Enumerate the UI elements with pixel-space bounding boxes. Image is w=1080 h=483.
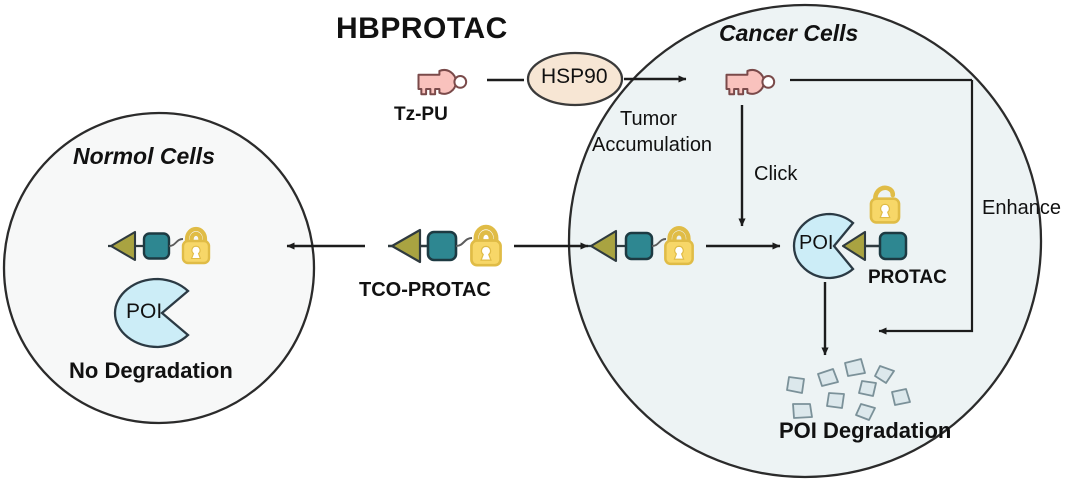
tumor-accumulation-line1: Tumor <box>620 108 677 131</box>
tco-protac-construct <box>388 227 501 265</box>
triangle-ligand-icon <box>392 230 420 262</box>
tz-pu-key-icon <box>419 70 467 94</box>
click-label: Click <box>754 163 797 186</box>
diagram-svg <box>0 0 1080 483</box>
figure-canvas: HBPROTAC Tz-PU HSP90 Tumor Accumulation … <box>0 0 1080 483</box>
square-linker-icon <box>428 232 456 260</box>
square-linker-icon <box>626 233 652 259</box>
padlock-locked-icon <box>183 229 209 263</box>
tumor-accumulation-line2: Accumulation <box>592 134 712 157</box>
figure-title: HBPROTAC <box>336 12 508 46</box>
padlock-locked-icon <box>471 227 500 265</box>
poi-label-normal: POI <box>126 300 162 324</box>
linker-wave <box>456 238 472 246</box>
padlock-locked-icon <box>665 228 692 264</box>
normal-cells-title: Normol Cells <box>73 143 215 170</box>
poi-degradation-label: POI Degradation <box>779 418 951 444</box>
hsp90-label: HSP90 <box>541 65 608 89</box>
protac-label: PROTAC <box>868 267 947 289</box>
square-linker-icon <box>880 233 906 259</box>
square-linker-icon <box>144 234 169 259</box>
tco-protac-label: TCO-PROTAC <box>359 279 491 302</box>
poi-label-cancer: POI <box>799 232 833 255</box>
tz-pu-label: Tz-PU <box>394 104 448 126</box>
cancer-cells-title: Cancer Cells <box>719 20 858 47</box>
no-degradation-label: No Degradation <box>69 358 233 384</box>
enhance-label: Enhance <box>982 197 1061 220</box>
